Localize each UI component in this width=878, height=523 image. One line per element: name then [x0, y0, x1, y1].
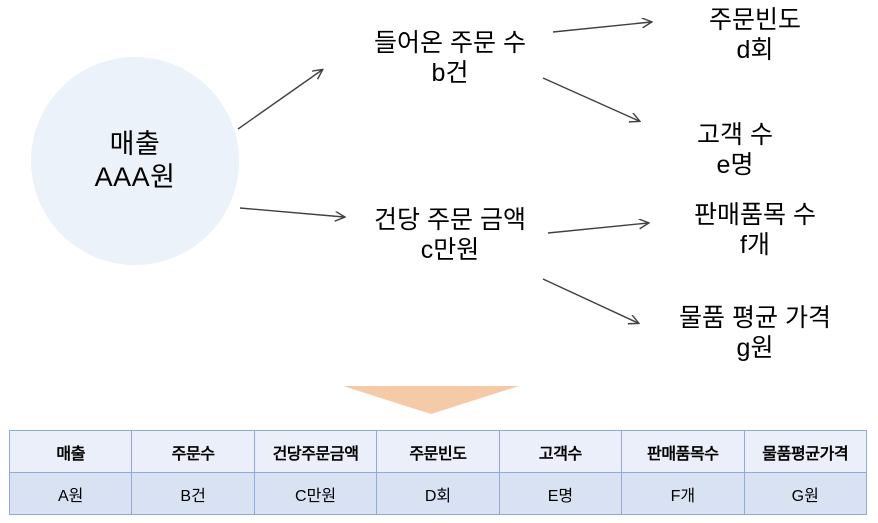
node-average-order-value-title: 건당 주문 금액 — [355, 205, 545, 235]
root-node-value: AAA원 — [95, 161, 176, 194]
table-row: A원 B건 C만원 D회 E명 F개 G원 — [10, 473, 867, 515]
connector-orders-to-customers — [543, 78, 639, 121]
node-orders: 들어온 주문 수 b건 — [355, 28, 545, 88]
node-sold-item-count: 판매품목 수 f개 — [650, 200, 860, 260]
table-header-avg-price: 물품평균가격 — [744, 431, 866, 473]
connector-root-to-orders — [238, 70, 322, 129]
connector-aov-to-avgprice — [543, 279, 638, 323]
table-cell-aov: C만원 — [254, 473, 376, 515]
table-header-aov: 건당주문금액 — [254, 431, 376, 473]
table-header-frequency: 주문빈도 — [377, 431, 499, 473]
node-sold-item-count-value: f개 — [650, 230, 860, 260]
node-customer-count-title: 고객 수 — [645, 120, 825, 150]
node-customer-count: 고객 수 e명 — [645, 120, 825, 180]
table-cell-frequency: D회 — [377, 473, 499, 515]
table-header-items: 판매품목수 — [622, 431, 744, 473]
table-header-row: 매출 주문수 건당주문금액 주문빈도 고객수 판매품목수 물품평균가격 — [10, 431, 867, 473]
node-average-order-value: 건당 주문 금액 c만원 — [355, 205, 545, 265]
summary-table: 매출 주문수 건당주문금액 주문빈도 고객수 판매품목수 물품평균가격 A원 B… — [9, 430, 867, 515]
table-header-order-count: 주문수 — [132, 431, 254, 473]
connector-aov-to-items — [548, 223, 648, 233]
node-customer-count-value: e명 — [645, 150, 825, 180]
root-node-revenue: 매출 AAA원 — [31, 57, 239, 265]
node-orders-title: 들어온 주문 수 — [355, 28, 545, 58]
table-cell-items: F개 — [622, 473, 744, 515]
node-order-frequency-value: d회 — [655, 35, 855, 65]
table-cell-order-count: B건 — [132, 473, 254, 515]
node-average-item-price-title: 물품 평균 가격 — [640, 303, 870, 333]
connector-root-to-aov — [240, 208, 344, 217]
table-header-customers: 고객수 — [499, 431, 621, 473]
node-order-frequency: 주문빈도 d회 — [655, 5, 855, 65]
table-cell-customers: E명 — [499, 473, 621, 515]
node-orders-value: b건 — [355, 58, 545, 88]
node-sold-item-count-title: 판매품목 수 — [650, 200, 860, 230]
root-node-title: 매출 — [110, 128, 161, 161]
connector-orders-to-frequency — [553, 22, 651, 32]
table-header-revenue: 매출 — [10, 431, 132, 473]
down-arrow-icon — [343, 386, 519, 414]
node-average-item-price: 물품 평균 가격 g원 — [640, 303, 870, 363]
table-cell-revenue: A원 — [10, 473, 132, 515]
node-average-item-price-value: g원 — [640, 333, 870, 363]
node-order-frequency-title: 주문빈도 — [655, 5, 855, 35]
diagram-canvas: 매출 AAA원 들어온 주문 수 b건 건당 주문 금액 c만원 주문빈도 d회… — [0, 0, 878, 523]
table-cell-avg-price: G원 — [744, 473, 866, 515]
node-average-order-value-value: c만원 — [355, 235, 545, 265]
